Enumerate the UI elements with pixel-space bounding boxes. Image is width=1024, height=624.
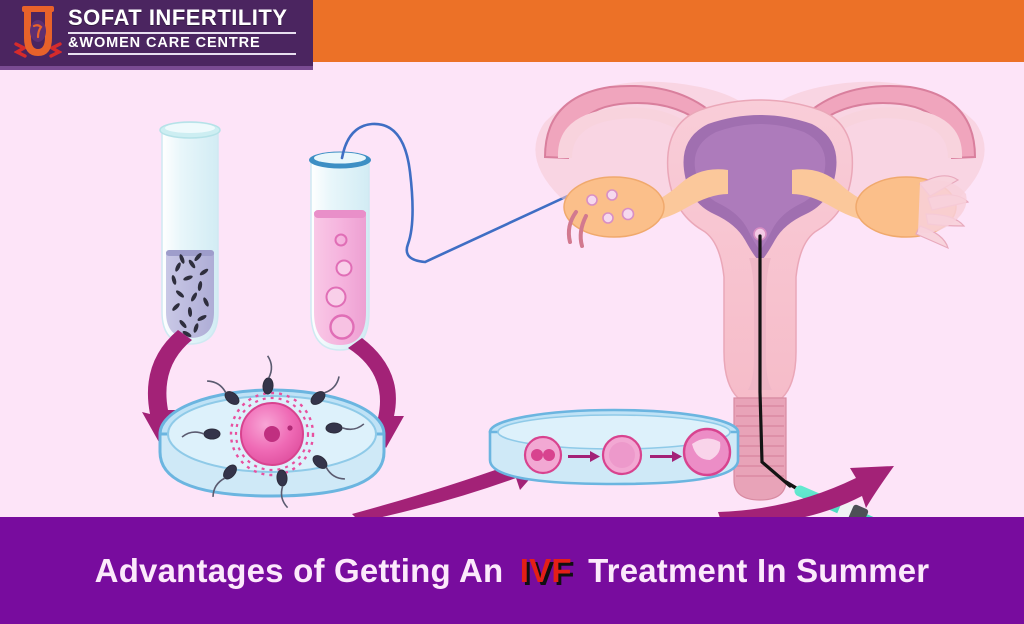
brand-logo-text: SOFAT INFERTILITY &WOMEN CARE CENTRE	[68, 7, 296, 59]
banner-text-part2: Treatment In Summer	[588, 552, 929, 589]
banner-ivf-highlight: IVF	[513, 552, 579, 589]
banner-canvas: SOFAT INFERTILITY &WOMEN CARE CENTRE	[0, 0, 1024, 624]
brand-rule-bottom	[68, 53, 296, 55]
brand-name-primary: SOFAT INFERTILITY	[68, 7, 296, 29]
brand-name-secondary: &WOMEN CARE CENTRE	[68, 36, 296, 51]
title-banner: Advantages of Getting An IVF Treatment I…	[0, 517, 1024, 624]
ivf-process-diagram	[0, 62, 1024, 517]
egg-collection-tube	[309, 152, 371, 351]
embryo-culture-petri-dish	[490, 410, 738, 484]
sperm-sample-tube	[160, 122, 220, 344]
brand-logo-block[interactable]: SOFAT INFERTILITY &WOMEN CARE CENTRE	[0, 0, 313, 70]
brand-rule-top	[68, 32, 296, 34]
banner-text-part1: Advantages of Getting An	[95, 552, 504, 589]
header-orange-bar	[310, 0, 1024, 62]
fertilisation-petri-dish	[160, 356, 384, 509]
uterus-womb-icon	[14, 4, 62, 62]
banner-headline: Advantages of Getting An IVF Treatment I…	[95, 554, 930, 587]
